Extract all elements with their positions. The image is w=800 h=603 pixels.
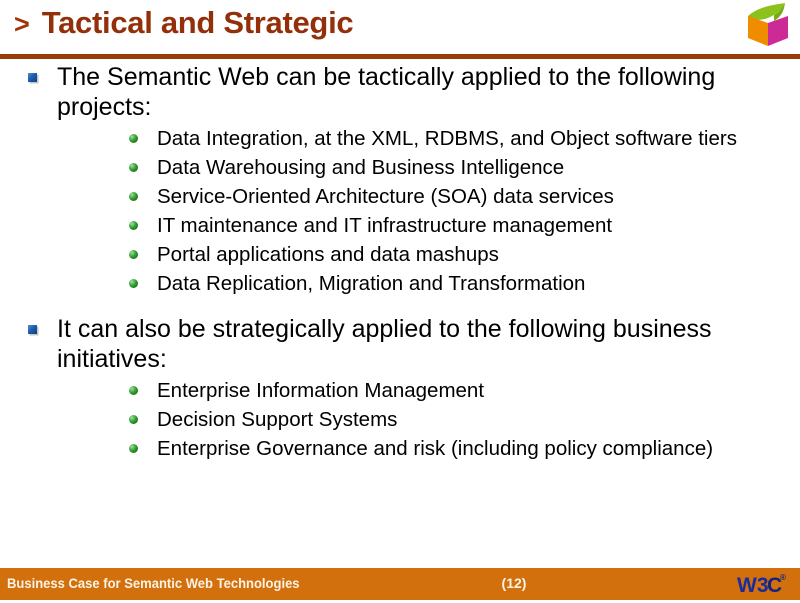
- sphere-bullet-icon: [129, 386, 138, 395]
- sphere-bullet-icon: [129, 444, 138, 453]
- list-item-level2-label: Decision Support Systems: [157, 407, 800, 432]
- list-item-level2-label: Data Integration, at the XML, RDBMS, and…: [157, 126, 800, 151]
- bullet-list-level2: Data Integration, at the XML, RDBMS, and…: [57, 126, 800, 296]
- list-item-level2: IT maintenance and IT infrastructure man…: [57, 213, 800, 238]
- cube-leaf-logo: [744, 2, 792, 48]
- w3c-logo: W3 C ®: [736, 570, 792, 598]
- sphere-bullet-icon: [129, 279, 138, 288]
- slide-body: The Semantic Web can be tactically appli…: [0, 62, 800, 562]
- title-text: Tactical and Strategic: [42, 7, 354, 38]
- square-bullet-icon: [28, 325, 37, 334]
- sphere-bullet-icon: [129, 134, 138, 143]
- list-item-level2-label: Data Replication, Migration and Transfor…: [157, 271, 800, 296]
- square-bullet-icon: [28, 73, 37, 82]
- group-spacer: [0, 300, 800, 314]
- list-item-level1-label: It can also be strategically applied to …: [57, 314, 800, 374]
- sphere-bullet-icon: [129, 415, 138, 424]
- list-item-level2: Decision Support Systems: [57, 407, 800, 432]
- list-item-level2-label: IT maintenance and IT infrastructure man…: [157, 213, 800, 238]
- svg-text:®: ®: [780, 573, 786, 582]
- footer-page-number: (12): [484, 575, 544, 591]
- title-marker-icon: >: [14, 11, 30, 38]
- svg-text:W3: W3: [737, 574, 769, 597]
- page-title: > Tactical and Strategic: [14, 7, 353, 38]
- sphere-bullet-icon: [129, 192, 138, 201]
- list-item-level2-label: Enterprise Governance and risk (includin…: [157, 436, 800, 461]
- sphere-bullet-icon: [129, 250, 138, 259]
- list-item-level2: Data Warehousing and Business Intelligen…: [57, 155, 800, 180]
- footer-deck-title: Business Case for Semantic Web Technolog…: [7, 575, 300, 591]
- list-item-level2: Service-Oriented Architecture (SOA) data…: [57, 184, 800, 209]
- list-item-level2-label: Portal applications and data mashups: [157, 242, 800, 267]
- slide-footer: Business Case for Semantic Web Technolog…: [0, 568, 800, 600]
- bullet-list-level2: Enterprise Information Management Decisi…: [57, 378, 800, 461]
- list-item-level1: It can also be strategically applied to …: [0, 314, 800, 461]
- list-item-level2: Data Replication, Migration and Transfor…: [57, 271, 800, 296]
- list-item-level2: Data Integration, at the XML, RDBMS, and…: [57, 126, 800, 151]
- list-item-level2: Enterprise Information Management: [57, 378, 800, 403]
- list-item-level2-label: Enterprise Information Management: [157, 378, 800, 403]
- bullet-list-level1: The Semantic Web can be tactically appli…: [0, 62, 800, 461]
- sphere-bullet-icon: [129, 163, 138, 172]
- list-item-level2: Portal applications and data mashups: [57, 242, 800, 267]
- slide-canvas: > Tactical and Strategic The Semantic We…: [0, 0, 800, 600]
- list-item-level2-label: Data Warehousing and Business Intelligen…: [157, 155, 800, 180]
- header-divider: [0, 54, 800, 59]
- slide-header: > Tactical and Strategic: [0, 0, 800, 54]
- list-item-level2: Enterprise Governance and risk (includin…: [57, 436, 800, 461]
- list-item-level2-label: Service-Oriented Architecture (SOA) data…: [157, 184, 800, 209]
- list-item-level1: The Semantic Web can be tactically appli…: [0, 62, 800, 296]
- sphere-bullet-icon: [129, 221, 138, 230]
- list-item-level1-label: The Semantic Web can be tactically appli…: [57, 62, 800, 122]
